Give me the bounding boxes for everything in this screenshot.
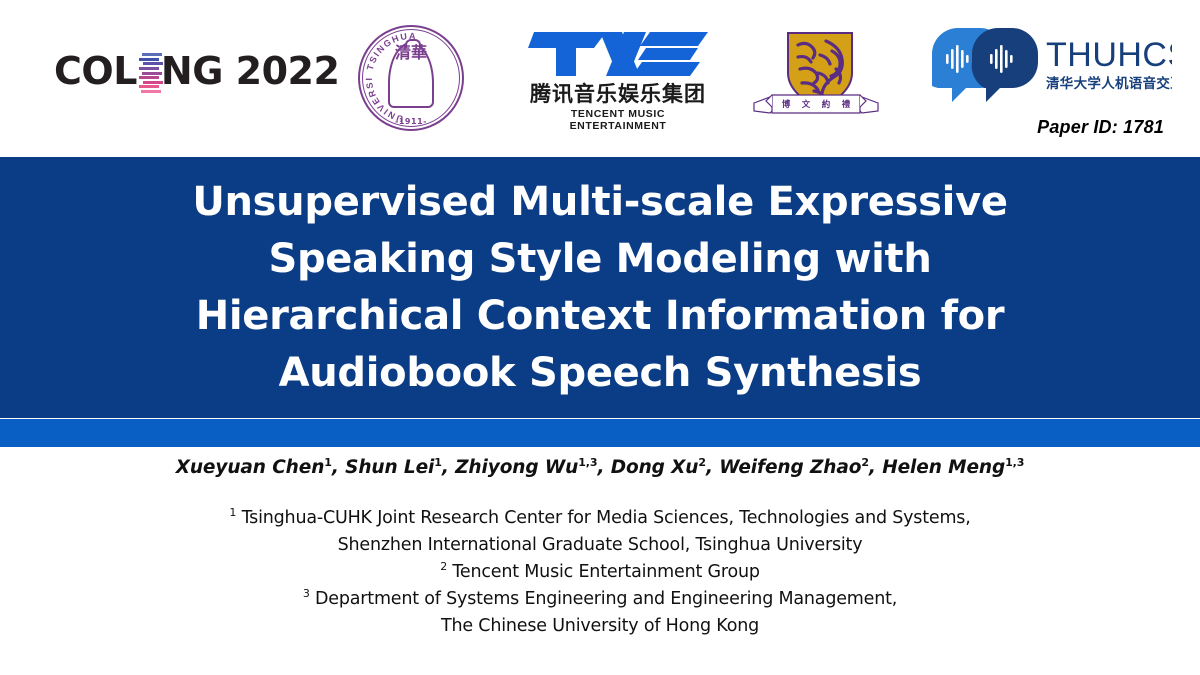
tme-english-name: TENCENT MUSIC ENTERTAINMENT [528,108,708,132]
accent-divider-band [0,419,1200,447]
affiliation-marker: 3 [303,587,310,600]
author-affiliation-marker: 1,3 [578,456,597,469]
affiliation-line: Shenzhen International Graduate School, … [0,532,1200,559]
affiliation-line: 3 Department of Systems Engineering and … [0,586,1200,613]
affiliation-line: The Chinese University of Hong Kong [0,613,1200,640]
affiliations-block: 1 Tsinghua-CUHK Joint Research Center fo… [0,505,1200,640]
tsinghua-founding-year: -1911- [358,117,464,126]
author-affiliation-marker: 2 [861,456,869,469]
author-name: Zhiyong Wu1,3 [455,457,597,478]
author-name: Xueyuan Chen1 [176,457,332,478]
tsinghua-hanzi: 清華 [358,45,464,61]
svg-text:博: 博 [782,99,791,110]
authors-block: Xueyuan Chen1, Shun Lei1, Zhiyong Wu1,3,… [0,455,1200,481]
svg-text:約: 約 [822,99,831,110]
author-name: Helen Meng1,3 [882,457,1024,478]
tme-mark-icon [528,28,708,80]
speech-bubble-dark-icon [972,28,1038,102]
authors-line: Xueyuan Chen1, Shun Lei1, Zhiyong Wu1,3,… [0,455,1200,481]
affiliation-line: 1 Tsinghua-CUHK Joint Research Center fo… [0,505,1200,532]
tencent-music-entertainment-logo: 腾讯音乐娱乐集团 TENCENT MUSIC ENTERTAINMENT [528,28,708,126]
paper-id-label: Paper ID: 1781 [1037,117,1164,138]
svg-text:禮: 禮 [842,99,851,110]
author-name: Weifeng Zhao2 [719,457,869,478]
svg-text:文: 文 [802,99,811,110]
coling-spectrogram-i-icon [139,53,159,93]
affiliation-marker: 1 [229,506,236,519]
author-name: Dong Xu2 [611,457,706,478]
coling-logo-text-right: NG 2022 [161,49,339,93]
author-affiliation-marker: 1 [434,456,442,469]
tme-chinese-name: 腾讯音乐娱乐集团 [528,82,708,106]
thuhcsi-chinese-name: 清华大学人机语音交互实验室 [1046,75,1172,92]
tsinghua-university-seal-icon: TSINGHUA UNIVERSITY 清華 -1911- [358,25,464,131]
author-affiliation-marker: 1,3 [1005,456,1024,469]
thuhcsi-logo: THUHCSI 清华大学人机语音交互实验室 [928,28,1172,106]
page-title: Unsupervised Multi-scale Expressive Spea… [50,174,1150,402]
presentation-title-slide: COL NG 2022 TSINGHUA UNIVERSI [0,0,1200,675]
coling-logo-text-left: COL [54,49,137,93]
author-name: Shun Lei1 [345,457,442,478]
affiliation-marker: 2 [440,560,447,573]
thuhcsi-acronym: THUHCSI [1046,36,1172,74]
affiliation-line: 2 Tencent Music Entertainment Group [0,559,1200,586]
author-affiliation-marker: 1 [324,456,332,469]
coling-2022-logo: COL NG 2022 [54,47,339,95]
logo-bar: COL NG 2022 TSINGHUA UNIVERSI [0,0,1200,157]
title-banner: Unsupervised Multi-scale Expressive Spea… [0,157,1200,418]
cuhk-crest-icon: 博 文 約 禮 [748,25,884,125]
author-affiliation-marker: 2 [698,456,706,469]
